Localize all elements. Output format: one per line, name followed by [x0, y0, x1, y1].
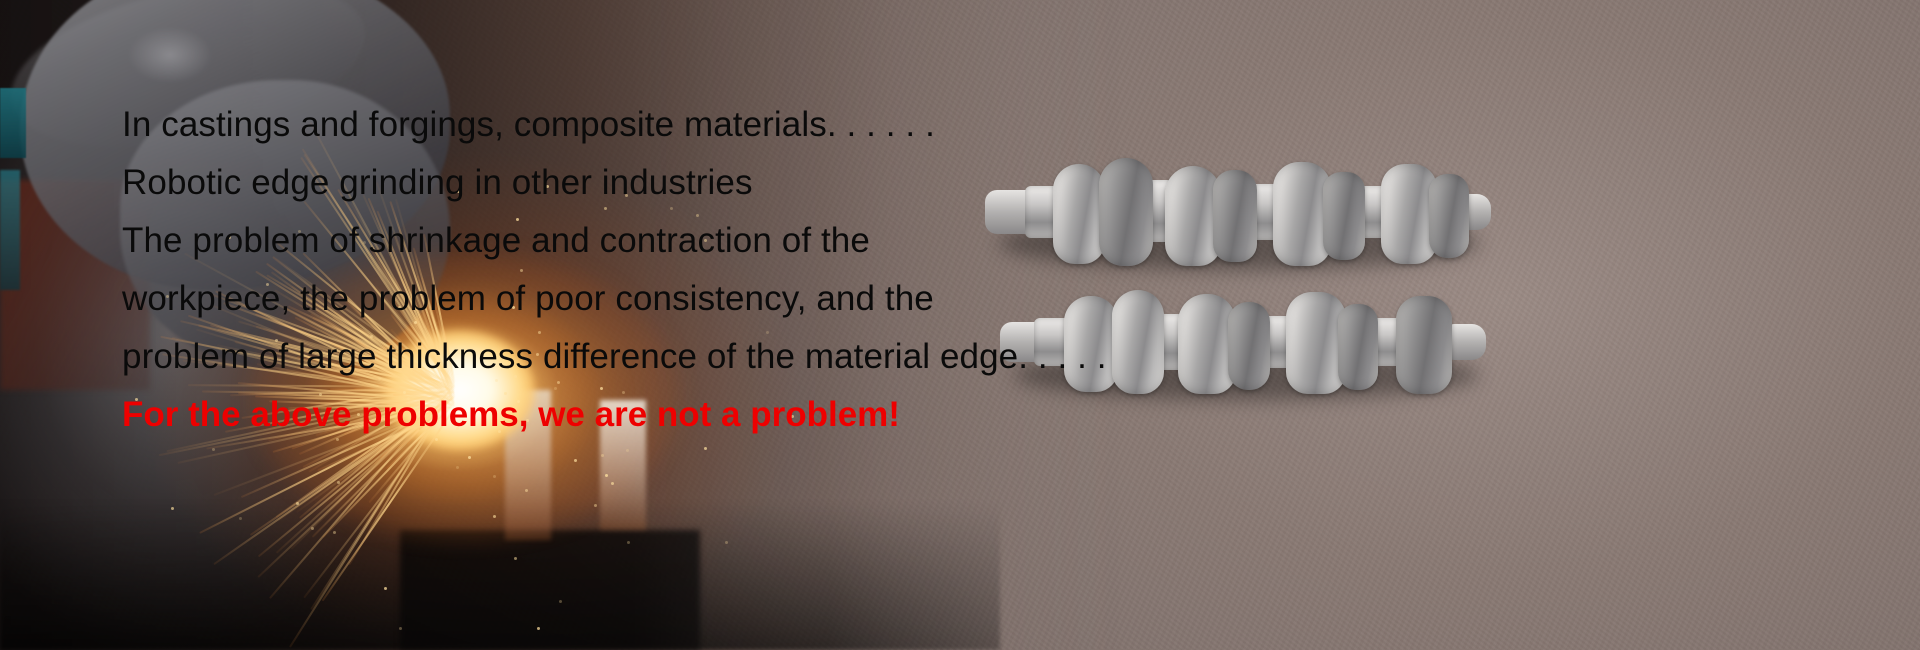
- banner-line-4: workpiece, the problem of poor consisten…: [122, 270, 1302, 328]
- crank-web: [1338, 304, 1378, 390]
- banner-callout-line: For the above problems, we are not a pro…: [122, 386, 1302, 444]
- banner-line-3: The problem of shrinkage and contraction…: [122, 212, 1302, 270]
- banner-copy: In castings and forgings, composite mate…: [122, 96, 1302, 444]
- crank-web: [1396, 296, 1452, 394]
- control-panel-light: [0, 88, 26, 158]
- crank-web: [1429, 174, 1469, 258]
- machine-base: [400, 530, 700, 650]
- crank-nose: [1448, 324, 1486, 360]
- banner-line-5: problem of large thickness difference of…: [122, 328, 1302, 386]
- banner-line-2: Robotic edge grinding in other industrie…: [122, 154, 1302, 212]
- banner-line-1: In castings and forgings, composite mate…: [122, 96, 1302, 154]
- hero-banner: In castings and forgings, composite mate…: [0, 0, 1920, 650]
- crank-web: [1323, 172, 1365, 260]
- control-panel-light-2: [0, 170, 20, 290]
